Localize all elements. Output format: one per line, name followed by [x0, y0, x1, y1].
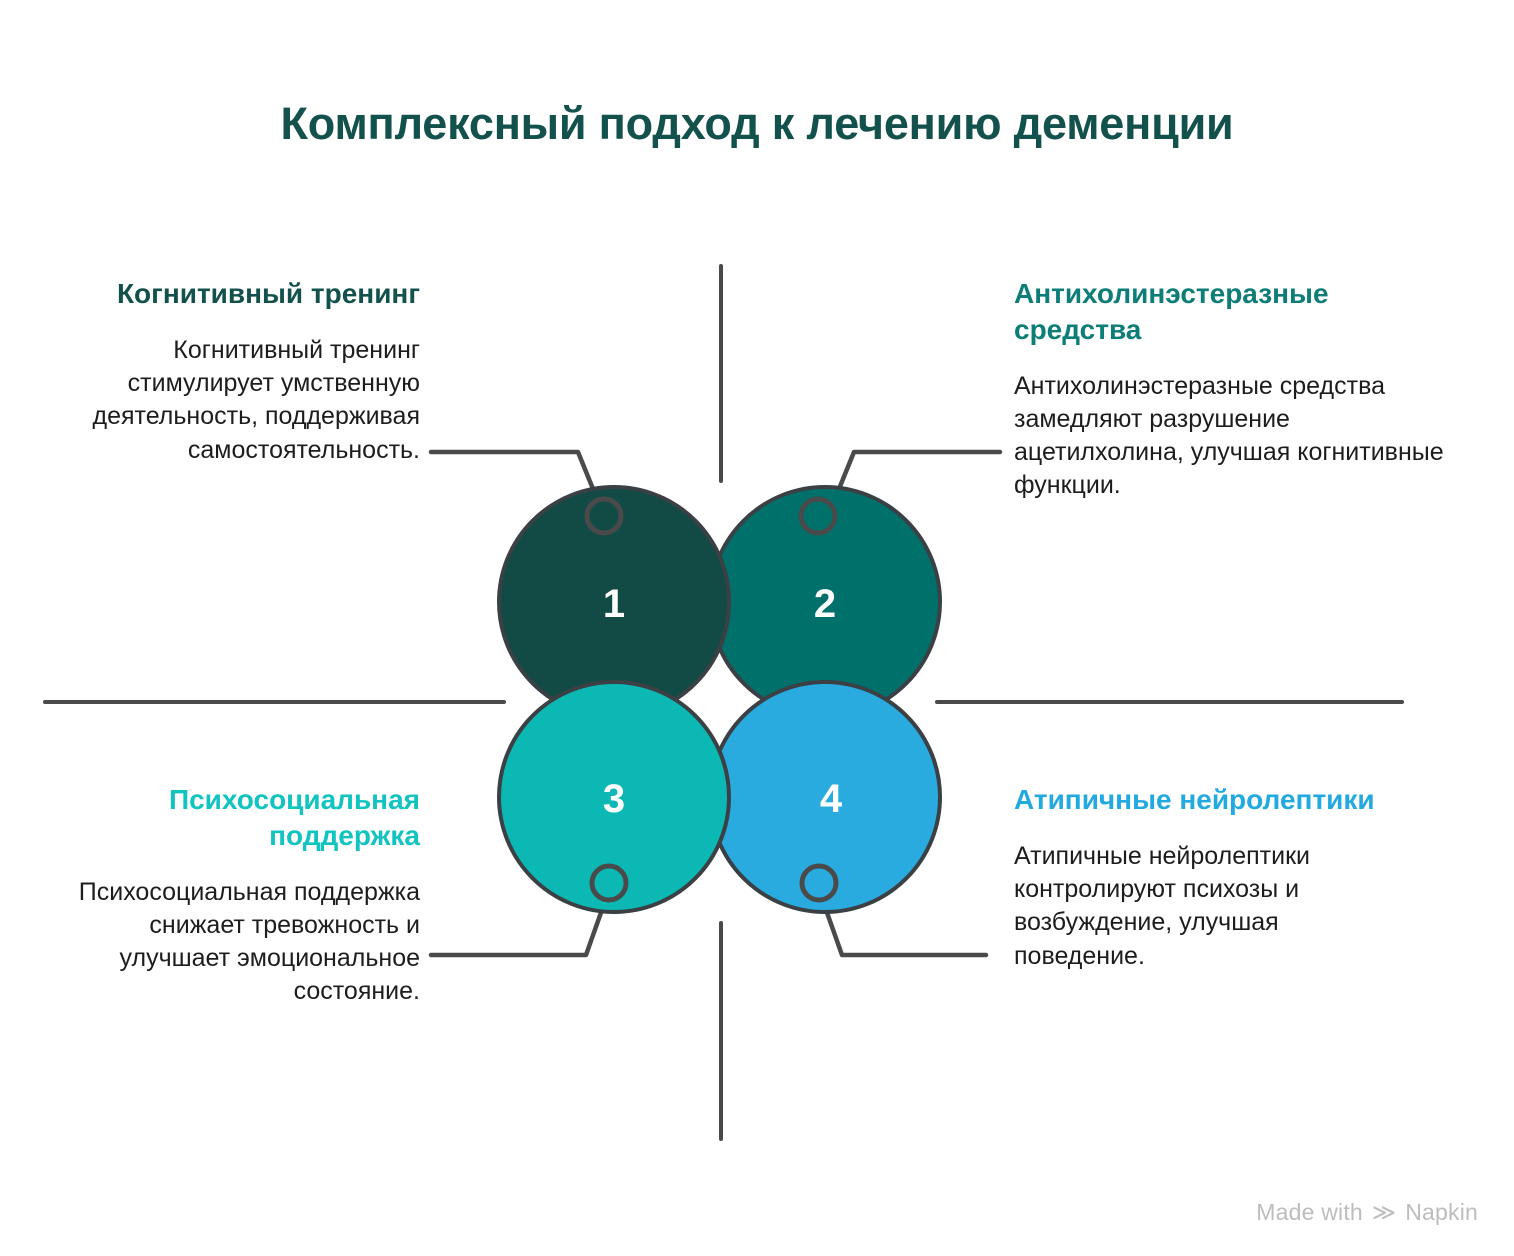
napkin-watermark: Made with ≫ Napkin	[1256, 1199, 1478, 1226]
watermark-brand: Napkin	[1405, 1199, 1478, 1226]
infographic-canvas: Комплексный подход к лечению деменции Ко…	[0, 0, 1514, 1256]
circle-1-number: 1	[603, 582, 625, 626]
circle-4-number: 4	[820, 777, 843, 821]
venn-circle-cluster: 2 1 4 3	[460, 450, 980, 950]
watermark-prefix: Made with	[1256, 1199, 1363, 1226]
circle-2-number: 2	[814, 582, 836, 626]
napkin-logo-icon: ≫	[1372, 1201, 1396, 1224]
circle-3-number: 3	[603, 777, 625, 821]
circle-3-group[interactable]: 3	[499, 682, 729, 912]
circle-4-group[interactable]: 4	[710, 682, 940, 912]
